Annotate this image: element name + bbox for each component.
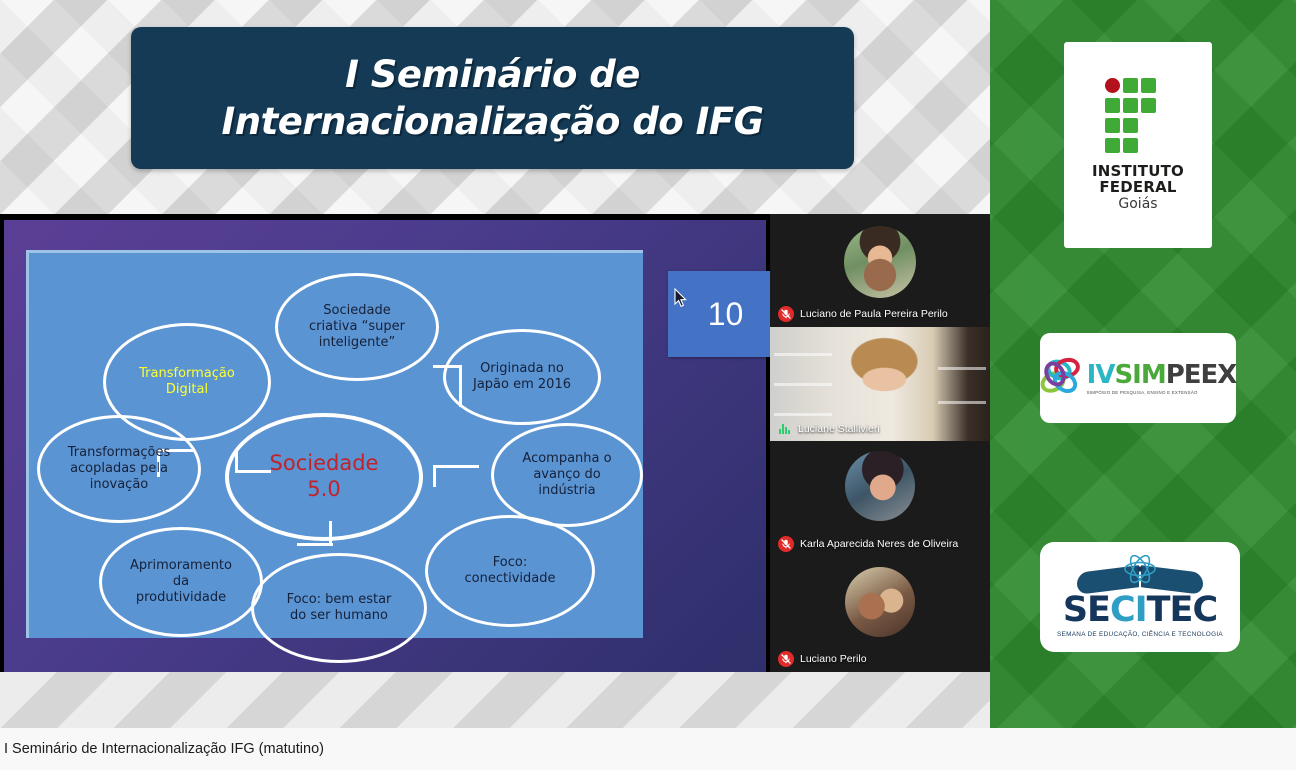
bubble-acompanha-industria: Acompanha oavanço doindústria: [491, 423, 643, 527]
mic-muted-icon[interactable]: [778, 651, 794, 667]
simpeex-subtitle: SIMPÓSIO DE PESQUISA, ENSINO E EXTENSÃO: [1087, 390, 1198, 395]
participant-name: Karla Aparecida Neres de Oliveira: [800, 538, 958, 550]
participant-namebar: Luciane Stallivieri: [770, 418, 990, 441]
shared-screen[interactable]: TransformaçãoDigital Sociedadecriativa “…: [0, 214, 770, 672]
bubble-label: TransformaçãoDigital: [139, 366, 235, 398]
bubble-label: Transformaçõesacopladas pelainovação: [68, 445, 171, 493]
simpeex-rings-icon: [1040, 356, 1084, 400]
bubble-sociedade-5-0: Sociedade5.0: [225, 413, 423, 541]
slide-number-badge[interactable]: 10: [668, 271, 771, 357]
bubble-label: Aprimoramentodaprodutividade: [130, 558, 232, 606]
participant-namebar: Luciano de Paula Pereira Perilo: [770, 302, 990, 327]
connector-line: [433, 465, 479, 468]
mic-muted-icon[interactable]: [778, 536, 794, 552]
participant-name: Luciano de Paula Pereira Perilo: [800, 308, 948, 320]
avatar: [845, 567, 915, 637]
mic-muted-icon[interactable]: [778, 306, 794, 322]
atom-icon: [1120, 555, 1160, 585]
secitec-book-icon: [1075, 557, 1205, 591]
participant-namebar: Luciano Perilo: [770, 647, 990, 672]
avatar: [845, 451, 915, 521]
mic-active-icon[interactable]: [778, 422, 792, 436]
bubble-label: Foco: bem estardo ser humano: [287, 592, 392, 624]
video-caption: I Seminário de Internacionalização IFG (…: [0, 728, 1296, 770]
connector-line: [433, 465, 436, 487]
video-caption-text: I Seminário de Internacionalização IFG (…: [4, 741, 324, 757]
event-title-line-1: I Seminário de: [345, 51, 640, 98]
avatar: [844, 226, 916, 298]
event-title-card: I Seminário de Internacionalização do IF…: [131, 27, 854, 169]
participant-strip: Luciano de Paula Pereira Perilo: [770, 214, 990, 672]
secitec-part-1: SE: [1063, 590, 1110, 630]
simpeex-part-3: PEEX: [1166, 360, 1237, 390]
bubble-label: Sociedadecriativa “superinteligente”: [309, 303, 405, 351]
slide-number-value: 10: [696, 296, 744, 333]
bubble-center-label: Sociedade5.0: [270, 451, 379, 502]
secitec-part-3: TEC: [1147, 590, 1217, 630]
ifg-label-line-2: FEDERAL: [1099, 180, 1176, 196]
bubble-foco-conectividade: Foco:conectividade: [425, 515, 595, 627]
bubble-label: Foco:conectividade: [465, 555, 556, 587]
participant-tile[interactable]: Luciane Stallivieri: [770, 327, 990, 441]
secitec-part-2: CI: [1110, 590, 1147, 630]
logo-iv-simpeex: IVSIMPEEX SIMPÓSIO DE PESQUISA, ENSINO E…: [1040, 333, 1236, 423]
video-player-frame[interactable]: I Seminário de Internacionalização do IF…: [0, 0, 1296, 728]
simpeex-part-2: SIM: [1114, 360, 1165, 390]
presentation-slide: TransformaçãoDigital Sociedadecriativa “…: [4, 220, 766, 672]
bubble-label: Originada noJapão em 2016: [473, 361, 571, 393]
participant-tile[interactable]: Karla Aparecida Neres de Oliveira: [770, 441, 990, 557]
secitec-subtitle: SEMANA DE EDUCAÇÃO, CIÊNCIA E TECNOLOGIA: [1057, 631, 1223, 638]
simpeex-part-1: IV: [1087, 360, 1115, 390]
lower-banner-strip: [0, 672, 990, 728]
broadcast-area: I Seminário de Internacionalização do IF…: [0, 0, 990, 728]
event-banner: I Seminário de Internacionalização do IF…: [0, 0, 990, 214]
logo-instituto-federal-goias: INSTITUTO FEDERAL Goiás: [1064, 42, 1212, 248]
logo-secitec: SECITEC SEMANA DE EDUCAÇÃO, CIÊNCIA E TE…: [1040, 542, 1240, 652]
participant-name: Luciane Stallivieri: [798, 423, 880, 435]
screenshot-stage: I Seminário de Internacionalização do IF…: [0, 0, 1296, 770]
bubble-sociedade-criativa: Sociedadecriativa “superinteligente”: [275, 273, 439, 381]
bubble-foco-bem-estar: Foco: bem estardo ser humano: [251, 553, 427, 663]
ifg-mark-icon: [1105, 78, 1171, 156]
bubble-label: Acompanha oavanço doindústria: [522, 451, 611, 499]
bubble-transformacoes-acopladas: Transformaçõesacopladas pelainovação: [37, 415, 201, 523]
participant-namebar: Karla Aparecida Neres de Oliveira: [770, 532, 990, 557]
bubble-aprimoramento-produtividade: Aprimoramentodaprodutividade: [99, 527, 263, 637]
event-title-line-2: Internacionalização do IFG: [221, 98, 763, 145]
participant-name: Luciano Perilo: [800, 653, 867, 665]
sponsor-sidebar: INSTITUTO FEDERAL Goiás: [990, 0, 1296, 728]
participant-tile[interactable]: Luciano Perilo: [770, 557, 990, 672]
slide-diagram-panel: TransformaçãoDigital Sociedadecriativa “…: [26, 250, 643, 638]
participant-tile[interactable]: Luciano de Paula Pereira Perilo: [770, 214, 990, 327]
connector-line: [297, 543, 333, 546]
ifg-label-line-3: Goiás: [1118, 196, 1157, 212]
bubble-originada-japao: Originada noJapão em 2016: [443, 329, 601, 425]
